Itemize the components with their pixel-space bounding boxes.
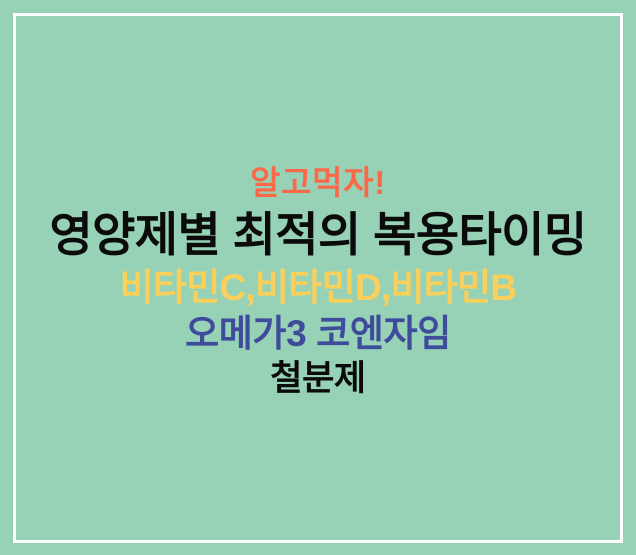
poster-card: 알고먹자! 영양제별 최적의 복용타이밍 비타민C,비타민D,비타민B 오메가3…: [0, 0, 636, 555]
poster-subline-iron: 철분제: [0, 361, 636, 396]
poster-text-block: 알고먹자! 영양제별 최적의 복용타이밍 비타민C,비타민D,비타민B 오메가3…: [0, 0, 636, 555]
poster-headline: 영양제별 최적의 복용타이밍: [0, 211, 636, 258]
poster-subline-omega: 오메가3 코엔자임: [0, 315, 636, 352]
poster-subline-vitamins: 비타민C,비타민D,비타민B: [0, 269, 636, 306]
poster-eyebrow-text: 알고먹자!: [0, 166, 636, 199]
